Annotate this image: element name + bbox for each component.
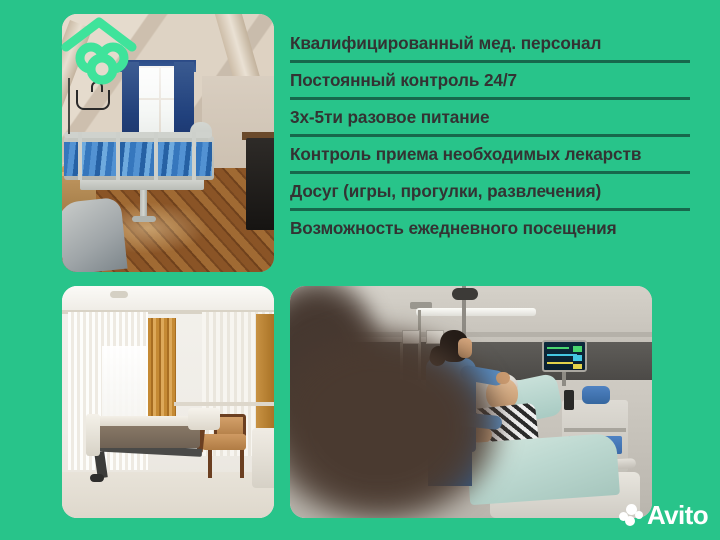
feature-text: Контроль приема необходимых лекарств (290, 143, 690, 165)
bright-chair-legs (208, 448, 244, 478)
avito-watermark: Avito (619, 502, 708, 528)
poster-canvas: Квалифицированный мед. персонал Постоянн… (0, 0, 720, 540)
bright-ceiling-light (110, 291, 128, 298)
monitor-value-blue (573, 355, 582, 361)
bright-ceiling (62, 286, 274, 312)
care-fluorescent-lamp (416, 308, 536, 316)
attic-tv-cabinet (246, 138, 274, 230)
care-bottle (564, 390, 574, 410)
feature-row: Контроль приема необходимых лекарств (290, 143, 690, 174)
attic-bed-bedding (64, 142, 212, 176)
avito-dots-icon (619, 504, 644, 526)
logo-roof-path (66, 22, 132, 47)
attic-bed-post (192, 132, 196, 180)
feature-row: 3х-5ти разовое питание (290, 106, 690, 137)
bright-orange-curtain-right (256, 314, 274, 434)
bright-second-bed (252, 428, 274, 488)
features-list: Квалифицированный мед. персонал Постоянн… (290, 32, 690, 251)
attic-clothes-hanger (76, 90, 110, 110)
feature-row: Досуг (игры, прогулки, развлечения) (290, 180, 690, 211)
bright-bed-headboard (86, 414, 100, 456)
photo-bright-room[interactable] (62, 286, 274, 518)
attic-bed-foot (132, 216, 156, 222)
bright-wall-trim (174, 402, 274, 406)
care-cart-shelf (564, 428, 626, 432)
feature-text: Досуг (игры, прогулки, развлечения) (290, 180, 690, 202)
attic-bed-post (116, 132, 120, 180)
attic-bed-post (154, 132, 158, 180)
care-monitor-stand (562, 372, 566, 386)
feature-row: Возможность ежедневного посещения (290, 217, 690, 245)
care-blue-bag (582, 386, 610, 404)
feature-row: Квалифицированный мед. персонал (290, 32, 690, 63)
monitor-value-yellow (573, 364, 582, 369)
feature-text: Квалифицированный мед. персонал (290, 32, 690, 54)
bright-bed-sheet (96, 416, 202, 426)
bright-orange-curtain (148, 318, 176, 430)
care-lamp-head (452, 288, 478, 300)
attic-covered-chair (62, 197, 128, 272)
feature-text: 3х-5ти разовое питание (290, 106, 690, 128)
monitor-value-green (573, 346, 582, 352)
bright-bed-wheel (90, 474, 104, 482)
care-scene (290, 286, 652, 518)
attic-bed-rail-lower (68, 138, 208, 141)
avito-wordmark: Avito (647, 502, 708, 528)
bright-room-scene (62, 286, 274, 518)
attic-bed-post (78, 132, 82, 180)
house-infinity-logo (60, 14, 138, 90)
attic-bed-leg (140, 190, 147, 218)
feature-text: Постоянный контроль 24/7 (290, 69, 690, 91)
bright-bed-pillow (188, 408, 220, 430)
photo-care-scene[interactable] (290, 286, 652, 518)
feature-row: Постоянный контроль 24/7 (290, 69, 690, 100)
logo-infinity-path (80, 47, 124, 80)
care-foreground-blur (290, 318, 560, 518)
bright-chair-seat (202, 434, 246, 450)
feature-text: Возможность ежедневного посещения (290, 217, 690, 239)
